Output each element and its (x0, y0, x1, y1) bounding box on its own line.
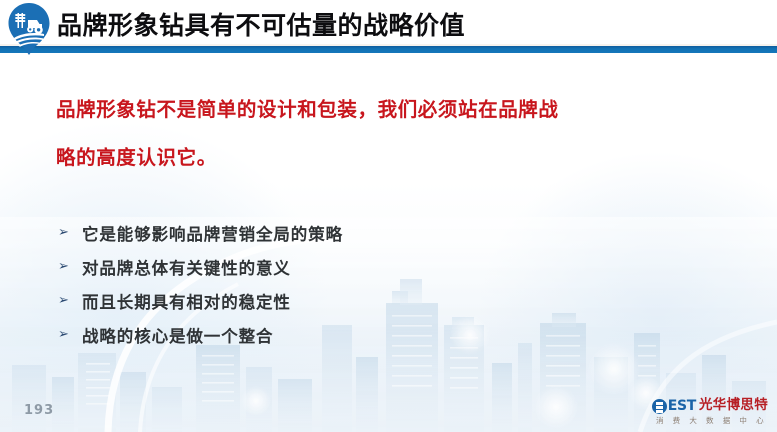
list-item: ➢ 战略的核心是做一个整合 (58, 318, 678, 352)
footer-logo-en: EST (668, 399, 696, 413)
bullet-arrow-icon: ➢ (58, 294, 82, 307)
agriculture-pin-icon (6, 2, 52, 56)
footer-logo-wordmark: EST 光华博思特 (652, 399, 768, 414)
lead-line-1: 品牌形象钻不是简单的设计和包装，我们必须站在品牌战 (56, 86, 716, 134)
bullet-text: 战略的核心是做一个整合 (82, 323, 273, 347)
bullet-text: 对品牌总体有关键性的意义 (82, 255, 291, 279)
bullet-arrow-icon: ➢ (58, 260, 82, 273)
bullet-text: 而且长期具有相对的稳定性 (82, 289, 291, 313)
best-circle-icon (652, 399, 667, 414)
list-item: ➢ 对品牌总体有关键性的意义 (58, 250, 678, 284)
bullet-text: 它是能够影响品牌营销全局的策略 (82, 221, 343, 245)
lead-line-2: 略的高度认识它。 (56, 134, 716, 182)
page-number: 193 (24, 403, 54, 418)
footer-logo: EST 光华博思特 消 费 大 数 据 中 心 (652, 399, 768, 425)
footer-logo-subtitle: 消 费 大 数 据 中 心 (656, 417, 767, 425)
header-divider (0, 46, 777, 53)
bullet-list: ➢ 它是能够影响品牌营销全局的策略 ➢ 对品牌总体有关键性的意义 ➢ 而且长期具… (58, 216, 678, 352)
bullet-arrow-icon: ➢ (58, 328, 82, 341)
list-item: ➢ 而且长期具有相对的稳定性 (58, 284, 678, 318)
footer-logo-cn: 光华博思特 (699, 399, 768, 413)
list-item: ➢ 它是能够影响品牌营销全局的策略 (58, 216, 678, 250)
lead-paragraph: 品牌形象钻不是简单的设计和包装，我们必须站在品牌战 略的高度认识它。 (56, 86, 716, 182)
bullet-arrow-icon: ➢ (58, 226, 82, 239)
slide-root: 品牌形象钻具有不可估量的战略价值 品牌形象钻不是简单的设计和包装，我们必须站在品… (0, 0, 777, 432)
page-title: 品牌形象钻具有不可估量的战略价值 (57, 11, 465, 41)
